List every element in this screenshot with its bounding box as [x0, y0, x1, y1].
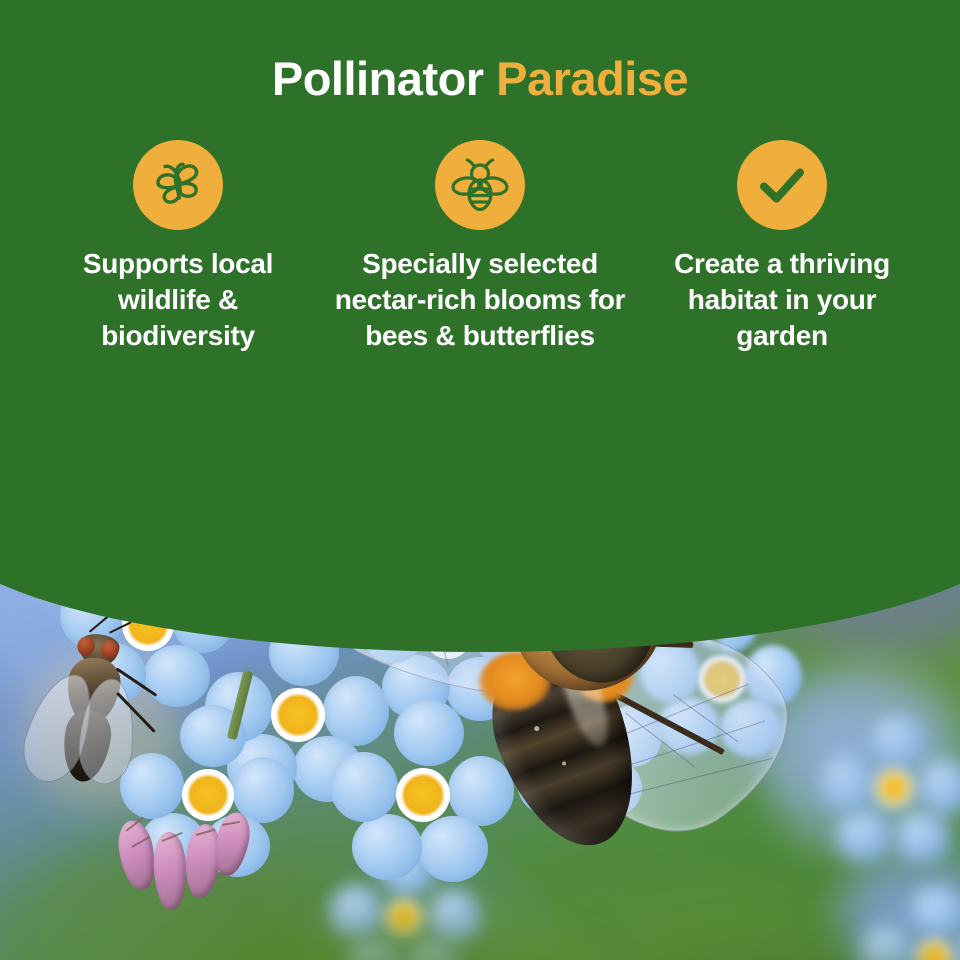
page-title: Pollinator Paradise — [0, 50, 960, 108]
bokeh-blob — [620, 885, 850, 960]
flower-buds — [110, 810, 270, 950]
page-title-part-1: Pollinator — [272, 52, 484, 105]
feature-text-blooms: Specially selected nectar-rich blooms fo… — [330, 246, 630, 354]
feature-text-habitat: Create a thriving habitat in your garden — [647, 246, 917, 354]
bee-icon-badge — [435, 140, 525, 230]
butterfly-icon-badge — [133, 140, 223, 230]
feature-item-blooms: Specially selected nectar-rich blooms fo… — [330, 140, 630, 354]
checkmark-icon-badge — [737, 140, 827, 230]
bee-icon — [449, 154, 511, 216]
flower-blurred — [820, 715, 960, 865]
feature-text-wildlife: Supports local wildlife & biodiversity — [48, 246, 308, 354]
flower-blurred — [860, 885, 960, 960]
butterfly-icon — [148, 155, 208, 215]
page-title-part-2: Paradise — [496, 52, 688, 105]
feature-list: Supports local wildlife & biodiversity — [0, 140, 960, 410]
feature-item-wildlife: Supports local wildlife & biodiversity — [28, 140, 328, 354]
checkmark-icon — [753, 156, 811, 214]
feature-item-habitat: Create a thriving habitat in your garden — [632, 140, 932, 354]
header-content: Pollinator Paradise — [0, 0, 960, 440]
small-fly — [29, 622, 181, 808]
poster: Pollinator Paradise — [0, 0, 960, 960]
